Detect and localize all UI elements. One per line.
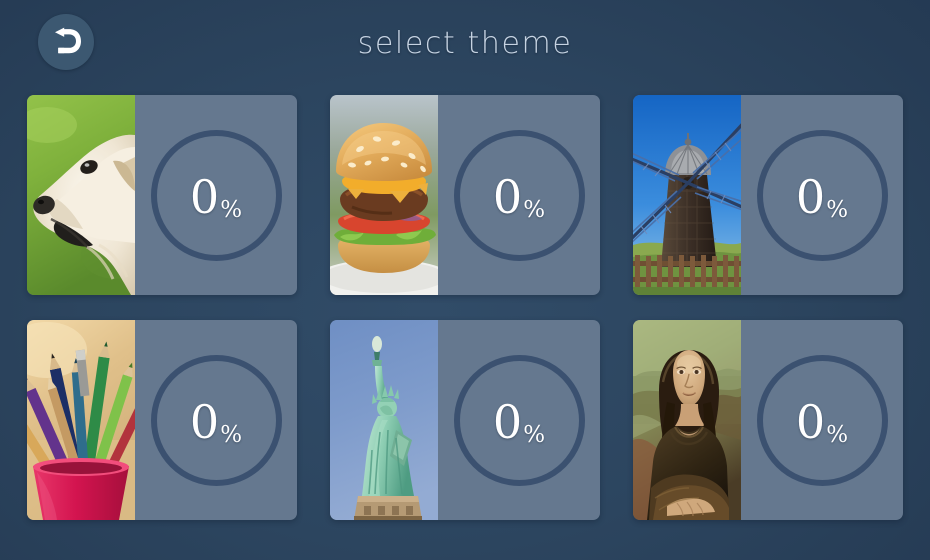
progress-meter: 0 % <box>741 320 903 520</box>
progress-number: 0 <box>796 174 825 220</box>
progress-meter: 0 % <box>438 95 600 295</box>
progress-unit: % <box>220 424 242 447</box>
theme-select-screen: select theme <box>0 0 930 560</box>
burger-photo <box>330 95 438 295</box>
progress-value: 0 % <box>493 399 545 445</box>
progress-ring: 0 % <box>151 130 282 261</box>
dog-photo <box>27 95 135 295</box>
progress-meter: 0 % <box>135 320 297 520</box>
progress-value: 0 % <box>190 399 242 445</box>
progress-ring: 0 % <box>454 130 585 261</box>
theme-card[interactable]: 0 % <box>27 320 297 520</box>
theme-card[interactable]: 0 % <box>330 320 600 520</box>
progress-number: 0 <box>493 174 522 220</box>
progress-unit: % <box>220 199 242 222</box>
progress-ring: 0 % <box>454 355 585 486</box>
progress-unit: % <box>523 199 545 222</box>
progress-number: 0 <box>190 399 219 445</box>
progress-unit: % <box>826 424 848 447</box>
theme-card[interactable]: 0 % <box>330 95 600 295</box>
progress-ring: 0 % <box>757 130 888 261</box>
windmill-photo <box>633 95 741 295</box>
header-bar: select theme <box>0 0 930 90</box>
progress-meter: 0 % <box>135 95 297 295</box>
progress-meter: 0 % <box>438 320 600 520</box>
progress-ring: 0 % <box>151 355 282 486</box>
statue-of-liberty-photo <box>330 320 438 520</box>
progress-value: 0 % <box>190 174 242 220</box>
progress-number: 0 <box>190 174 219 220</box>
pencils-photo <box>27 320 135 520</box>
progress-value: 0 % <box>493 174 545 220</box>
theme-card[interactable]: 0 % <box>633 95 903 295</box>
progress-value: 0 % <box>796 174 848 220</box>
theme-grid: 0 % <box>27 95 903 545</box>
theme-card[interactable]: 0 % <box>27 95 297 295</box>
progress-unit: % <box>826 199 848 222</box>
mona-lisa-photo <box>633 320 741 520</box>
progress-ring: 0 % <box>757 355 888 486</box>
progress-number: 0 <box>493 399 522 445</box>
page-title: select theme <box>0 26 930 61</box>
theme-card[interactable]: 0 % <box>633 320 903 520</box>
progress-unit: % <box>523 424 545 447</box>
progress-value: 0 % <box>796 399 848 445</box>
progress-meter: 0 % <box>741 95 903 295</box>
progress-number: 0 <box>796 399 825 445</box>
